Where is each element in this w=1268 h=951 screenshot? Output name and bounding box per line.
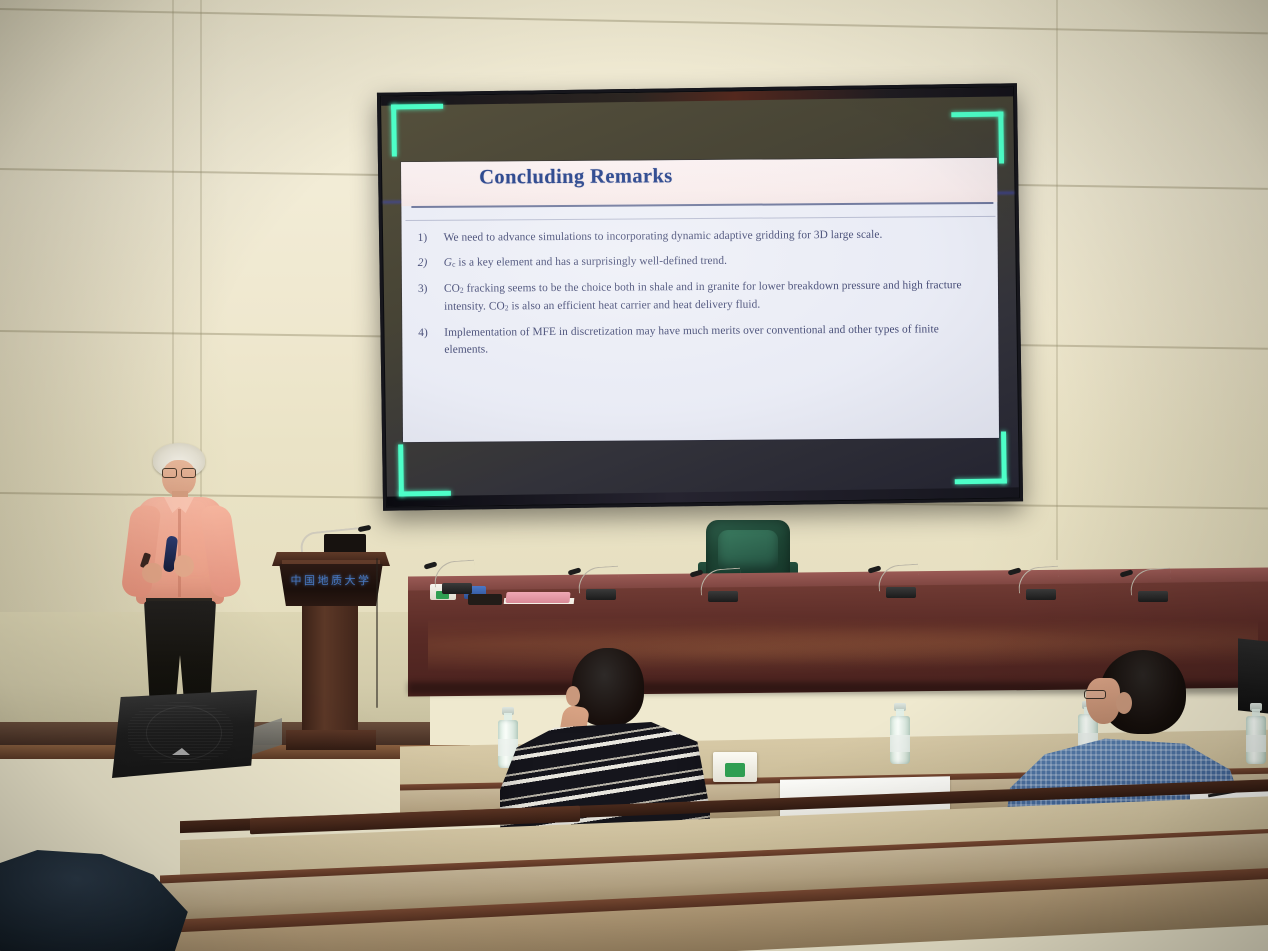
desk-tissue-box <box>713 752 757 782</box>
audience-ear <box>1116 692 1132 714</box>
audience-face <box>1086 678 1120 724</box>
slide-bullet-1-number: 1) <box>416 230 444 247</box>
presenter-left-hand <box>142 563 162 583</box>
presentation-slide: Concluding Remarks 1) We need to advance… <box>401 158 999 442</box>
slide-bullet-2-number: 2) <box>416 255 444 272</box>
audience-ear <box>566 686 580 706</box>
projection-screen: Concluding Remarks 1) We need to advance… <box>377 83 1023 510</box>
slide-bullet-1-text: We need to advance simulations to incorp… <box>444 226 982 247</box>
slide-bullet-2-text: Gc is a key element and has a surprising… <box>444 251 982 273</box>
slide-bullet-2-rest: is a key element and has a surprisingly … <box>455 255 727 269</box>
podium-base <box>286 730 376 750</box>
stage-monitor-speaker <box>112 690 257 778</box>
table-microphone-icon <box>1120 568 1176 602</box>
podium-column <box>302 606 358 732</box>
table-microphone-icon <box>868 564 924 598</box>
slide-body: 1) We need to advance simulations to inc… <box>402 220 1000 442</box>
presenter-shirt-placket <box>178 509 181 597</box>
slide-title-bar: Concluding Remarks <box>401 158 997 206</box>
slide-bullet-4: 4) Implementation of MFE in discretizati… <box>416 321 982 359</box>
head-table-pink-folder <box>505 592 570 603</box>
table-microphone-icon <box>690 568 746 602</box>
slide-bullet-1: 1) We need to advance simulations to inc… <box>416 226 982 247</box>
water-bottle <box>890 702 910 764</box>
podium-monitor <box>324 534 366 554</box>
slide-bullet-3-number: 3) <box>416 281 444 298</box>
lecture-hall-scene: Concluding Remarks 1) We need to advance… <box>0 0 1268 951</box>
presenter-trousers <box>144 601 216 705</box>
table-microphone-icon <box>1008 566 1064 600</box>
slide-bullet-3: 3) CO2 fracking seems to be the choice b… <box>416 277 982 317</box>
table-microphone-icon <box>424 560 480 594</box>
slide-bullet-4-number: 4) <box>416 325 444 342</box>
slide-bullet-3-part-c: is also an efficient heat carrier and he… <box>509 299 761 313</box>
glasses-icon <box>1084 690 1106 699</box>
head-table-dark-box <box>468 594 502 605</box>
glasses-icon <box>161 468 197 476</box>
table-microphone-icon <box>568 566 624 600</box>
chair-cushion <box>718 530 778 572</box>
presenter-right-hand <box>174 555 194 577</box>
slide-bullet-3-part-a: CO <box>444 283 460 295</box>
podium: 中国地质大学 <box>272 552 390 757</box>
slide-bullet-4-text: Implementation of MFE in discretization … <box>444 321 982 359</box>
podium-university-label: 中国地质大学 <box>272 572 390 588</box>
slide-title: Concluding Remarks <box>479 165 673 189</box>
presenter <box>118 443 238 705</box>
podium-cable <box>376 558 378 708</box>
slide-bullet-2: 2) Gc is a key element and has a surpris… <box>416 251 982 273</box>
foreground-bag <box>0 848 205 951</box>
slide-bullet-3-text: CO2 fracking seems to be the choice both… <box>444 277 982 317</box>
